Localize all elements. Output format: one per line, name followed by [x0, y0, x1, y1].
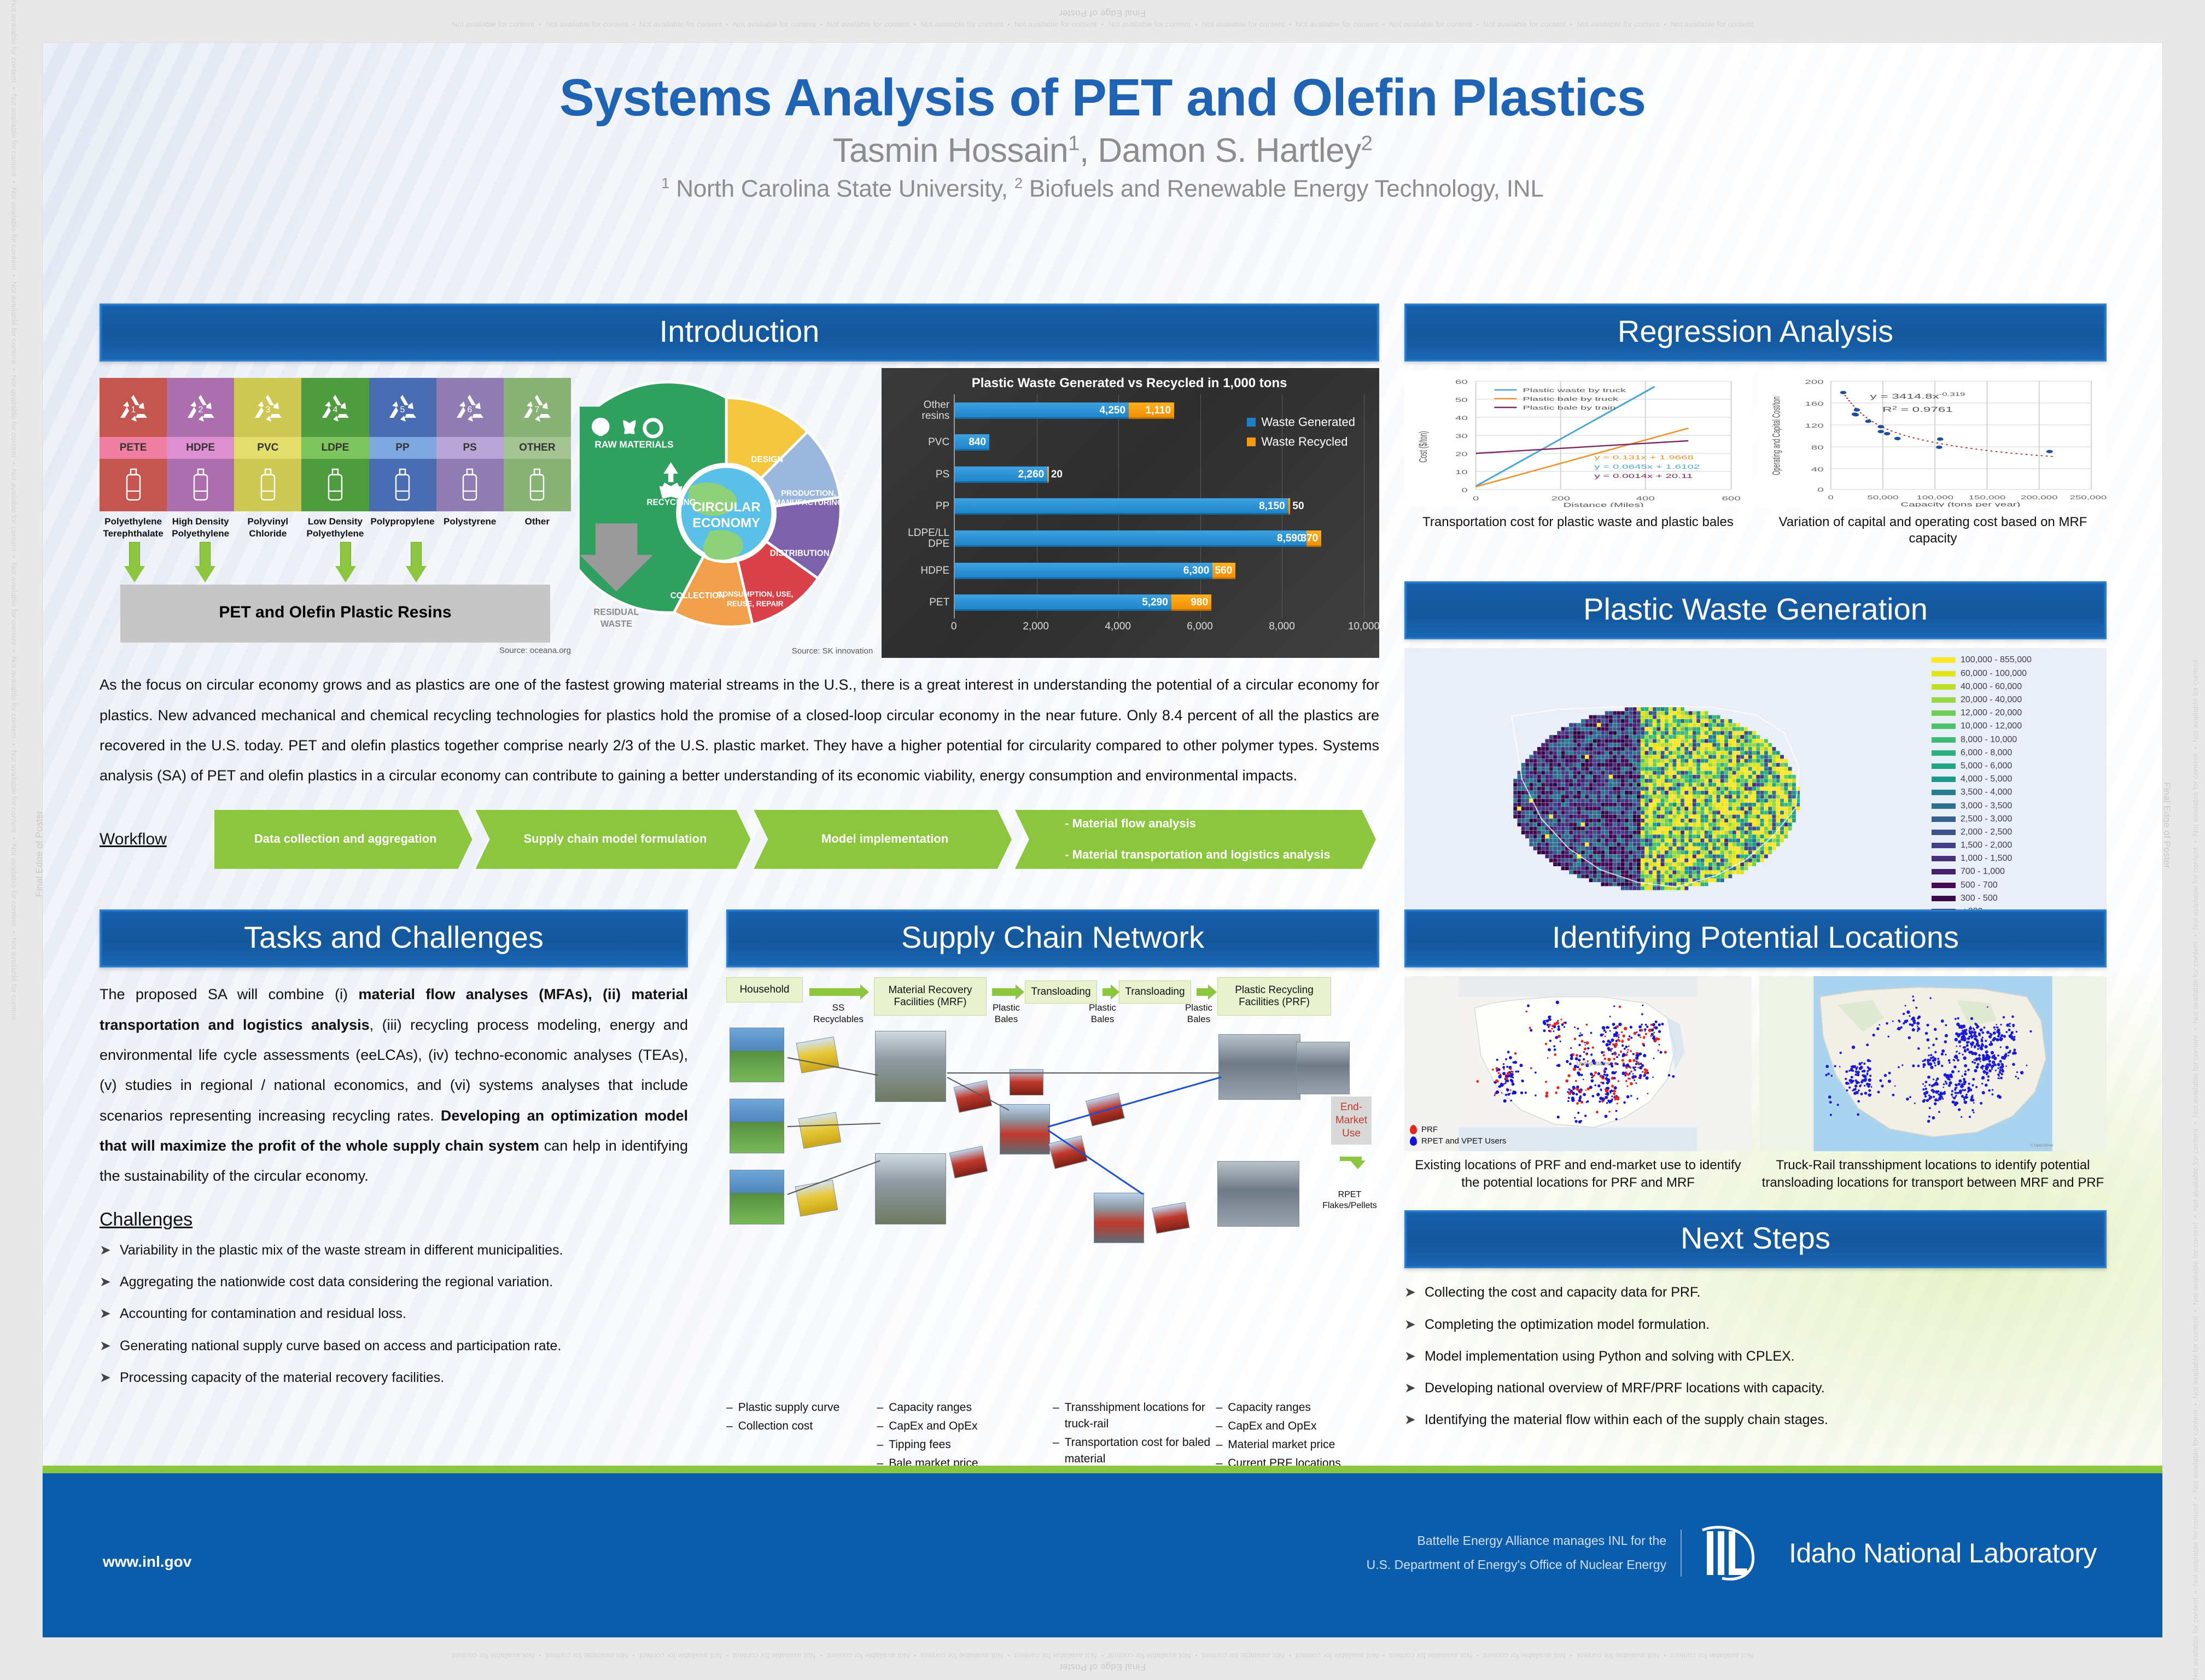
map-location-point: [1972, 1078, 1975, 1081]
county-cell: [1693, 799, 1696, 803]
county-cell: [1653, 859, 1656, 862]
county-cell: [1545, 843, 1549, 847]
county-cell: [1732, 775, 1736, 779]
county-cell: [1625, 755, 1629, 759]
county-cell: [1772, 751, 1776, 755]
county-cell: [1656, 799, 1660, 803]
county-cell: [1681, 799, 1684, 803]
map-location-point: [1931, 1089, 1934, 1092]
county-cell: [1681, 755, 1684, 759]
county-cell: [1712, 811, 1716, 815]
county-cell: [1732, 835, 1736, 839]
bar-row: PS2,26020: [955, 466, 1364, 483]
county-cell: [1585, 724, 1589, 727]
resin-code-label: PETE: [100, 437, 167, 459]
county-cell: [1645, 862, 1649, 866]
map-location-point: [1549, 1016, 1551, 1018]
county-cell: [1776, 767, 1780, 771]
county-cell: [1748, 739, 1752, 743]
county-cell: [1553, 819, 1557, 822]
bar-category-label: HDPE: [894, 565, 955, 576]
county-cell: [1569, 839, 1573, 843]
county-cell: [1549, 851, 1553, 855]
county-cell: [1537, 751, 1541, 755]
county-cell: [1649, 767, 1653, 771]
county-cell: [1645, 779, 1649, 783]
map-location-point: [1643, 1036, 1646, 1039]
county-cell: [1712, 819, 1716, 822]
county-cell: [1537, 831, 1541, 835]
county-cell: [1745, 835, 1748, 839]
map-location-point: [2013, 1051, 2015, 1053]
map-location-point: [1894, 1086, 1896, 1087]
county-cell: [1561, 807, 1565, 811]
county-cell: [1712, 847, 1716, 850]
county-cell: [1764, 803, 1768, 807]
county-cell: [1745, 839, 1748, 843]
county-cell: [1521, 795, 1525, 799]
county-cell: [1780, 807, 1784, 811]
county-cell: [1545, 755, 1549, 759]
county-cell: [1700, 823, 1704, 827]
map-location-point: [1601, 1090, 1602, 1092]
county-cell: [1577, 847, 1581, 850]
county-cell: [1613, 763, 1617, 767]
inl-website-link[interactable]: www.inl.gov: [103, 1553, 191, 1571]
county-cell: [1569, 819, 1573, 822]
county-cell: [1577, 831, 1581, 835]
bullet-text: Variability in the plastic mix of the wa…: [120, 1240, 563, 1260]
scatter-point: [1877, 425, 1884, 428]
map-location-point: [1975, 1024, 1978, 1026]
county-cell: [1569, 739, 1573, 743]
county-cell: [1705, 775, 1708, 779]
county-cell: [1681, 807, 1684, 811]
county-cell: [1780, 835, 1784, 839]
map-location-point: [1825, 1074, 1827, 1076]
county-cell: [1717, 855, 1720, 859]
county-cell: [1700, 811, 1704, 815]
county-cell: [1792, 795, 1796, 799]
county-cell: [1585, 763, 1589, 767]
bar-value-recycled: 980: [1191, 597, 1208, 609]
county-cell: [1577, 823, 1581, 827]
county-cell: [1745, 823, 1748, 827]
map-location-point: [1605, 1077, 1608, 1080]
county-cell: [1689, 827, 1693, 831]
county-cell: [1780, 783, 1784, 787]
county-cell: [1541, 787, 1545, 791]
county-cell: [1641, 851, 1644, 855]
map-location-point: [1579, 1069, 1582, 1071]
map-location-point: [1866, 1044, 1869, 1047]
county-cell: [1693, 791, 1696, 795]
dash-bullet-icon: –: [877, 1437, 884, 1453]
county-cell: [1633, 874, 1637, 878]
county-cell: [1756, 751, 1760, 755]
map-location-point: [1987, 1058, 1989, 1059]
county-cell: [1621, 779, 1625, 783]
prf-endmarket-map-cell: United States PRFRPET and VPET Users Exi…: [1404, 976, 1752, 1191]
down-arrow-icon: [195, 542, 215, 582]
county-cell: [1696, 767, 1700, 771]
county-cell: [1696, 811, 1700, 815]
map-location-point: [1851, 1080, 1853, 1081]
county-cell: [1745, 727, 1748, 731]
map-location-point: [2012, 1063, 2015, 1066]
map-location-point: [1966, 1048, 1969, 1051]
county-cell: [1665, 739, 1669, 743]
county-cell: [1772, 771, 1776, 775]
county-cell: [1665, 851, 1669, 855]
county-cell: [1748, 775, 1752, 779]
map-location-point: [1963, 1099, 1965, 1101]
map-location-point: [1934, 1062, 1935, 1064]
county-cell: [1653, 787, 1656, 791]
county-cell: [1645, 807, 1649, 811]
county-cell: [1681, 886, 1684, 890]
county-cell: [1748, 811, 1752, 815]
map-location-point: [1992, 1089, 1993, 1091]
map-location-point: [1626, 1095, 1630, 1099]
county-cell: [1693, 739, 1696, 743]
county-cell: [1561, 862, 1565, 866]
county-cell: [1617, 859, 1621, 862]
county-cell: [1665, 715, 1669, 719]
county-cell: [1665, 855, 1669, 859]
county-cell: [1656, 755, 1660, 759]
county-cell: [1740, 747, 1744, 751]
county-cell: [1577, 779, 1581, 783]
map-location-point: [1647, 1093, 1648, 1095]
county-cell: [1577, 843, 1581, 847]
county-cell: [1621, 819, 1625, 822]
county-cell: [1533, 767, 1537, 771]
county-cell: [1724, 763, 1728, 767]
county-cell: [1696, 807, 1700, 811]
flow-label-bales-1: PlasticBales: [991, 1002, 1022, 1025]
map-location-point: [1643, 1045, 1645, 1047]
map-location-point: [1961, 1116, 1962, 1118]
map-location-point: [1494, 1082, 1495, 1083]
county-cell: [1541, 755, 1545, 759]
bar-row: PP8,15050: [955, 498, 1364, 515]
map-location-point: [1639, 1066, 1642, 1070]
county-cell: [1693, 775, 1696, 779]
county-cell: [1661, 839, 1665, 843]
county-cell: [1549, 791, 1553, 795]
county-cell: [1605, 771, 1609, 775]
next-step-item: ➤Model implementation using Python and s…: [1404, 1346, 2107, 1366]
map-location-point: [1527, 1005, 1530, 1007]
county-cell: [1677, 791, 1681, 795]
county-cell: [1772, 843, 1776, 847]
optimization-input-item: –Collection cost: [726, 1418, 877, 1434]
county-cell: [1776, 807, 1780, 811]
map-location-point: [1502, 1066, 1505, 1069]
county-cell: [1625, 859, 1629, 862]
county-cell: [1708, 771, 1712, 775]
county-cell: [1533, 815, 1537, 819]
county-cell: [1569, 731, 1573, 735]
county-cell: [1525, 795, 1529, 799]
county-cell: [1653, 724, 1656, 727]
map-location-point: [1584, 1115, 1586, 1117]
legend-item: 60,000 - 100,000: [1932, 667, 2107, 680]
dash-bullet-icon: –: [877, 1399, 884, 1416]
county-cell: [1732, 779, 1736, 783]
county-cell: [1521, 787, 1525, 791]
bullet-arrow-icon: ➤: [100, 1368, 111, 1387]
county-cell: [1717, 859, 1720, 862]
map-location-point: [1634, 1032, 1637, 1035]
county-cell: [1673, 731, 1677, 735]
county-cell: [1557, 851, 1561, 855]
county-cell: [1601, 755, 1605, 759]
county-cell: [1597, 871, 1601, 874]
county-cell: [1573, 791, 1577, 795]
county-cell: [1597, 755, 1601, 759]
county-cell: [1684, 711, 1688, 715]
county-cell: [1637, 775, 1641, 779]
county-cell: [1653, 795, 1656, 799]
map-location-point: [1958, 1040, 1961, 1043]
optimization-input-item: –CapEx and OpEx: [1216, 1418, 1380, 1434]
county-cell: [1665, 708, 1669, 711]
county-cell: [1649, 851, 1653, 855]
map-location-point: [2009, 1023, 2010, 1024]
county-cell: [1617, 783, 1621, 787]
county-cell: [1780, 815, 1784, 819]
county-cell: [1689, 731, 1693, 735]
map-location-point: [1570, 1054, 1573, 1057]
county-cell: [1760, 835, 1764, 839]
county-cell: [1656, 859, 1660, 862]
county-cell: [1641, 791, 1644, 795]
map-location-point: [1977, 1048, 1979, 1050]
footer-credit: Battelle Energy Alliance manages INL for…: [1367, 1529, 1667, 1577]
county-cell: [1609, 843, 1613, 847]
county-cell: [1513, 779, 1517, 783]
county-cell: [1673, 739, 1677, 743]
svg-text:2: 2: [198, 405, 203, 415]
county-cell: [1617, 819, 1621, 822]
svg-text:MANUFACTURING: MANUFACTURING: [774, 499, 843, 507]
map-location-point: [1987, 1054, 1988, 1056]
map-location-point: [2008, 1029, 2011, 1031]
county-cell: [1681, 874, 1684, 878]
county-cell: [1700, 835, 1704, 839]
county-cell: [1665, 747, 1669, 751]
map-location-point: [1618, 1081, 1619, 1082]
county-cell: [1693, 743, 1696, 747]
map-location-point: [1990, 1041, 1992, 1043]
county-cell: [1720, 731, 1724, 735]
resin-product-icon: [100, 459, 167, 511]
county-cell: [1625, 823, 1629, 827]
map-location-point: [1999, 1060, 2002, 1063]
svg-text:20: 20: [1455, 451, 1468, 458]
county-cell: [1760, 807, 1764, 811]
county-cell: [1764, 827, 1768, 831]
map-location-point: [1924, 1095, 1927, 1098]
county-cell: [1661, 843, 1665, 847]
county-cell: [1712, 755, 1716, 759]
map-location-point: [1613, 1006, 1615, 1007]
county-cell: [1637, 751, 1641, 755]
county-cell: [1589, 727, 1593, 731]
map-location-point: [1991, 1068, 1993, 1070]
county-cell: [1653, 879, 1656, 883]
map-location-point: [1965, 1094, 1968, 1096]
county-cell: [1665, 807, 1669, 811]
county-cell: [1557, 783, 1561, 787]
county-cell: [1617, 775, 1621, 779]
county-cell: [1633, 771, 1637, 775]
county-cell: [1656, 783, 1660, 787]
county-cell: [1601, 851, 1605, 855]
x-axis-tick: 0: [951, 621, 957, 633]
county-cell: [1605, 815, 1609, 819]
county-cell: [1553, 807, 1557, 811]
county-cell: [1537, 767, 1541, 771]
county-cell: [1613, 803, 1617, 807]
introduction-panel: Introduction 1PETEPolyethylene Terephtha…: [100, 304, 1379, 869]
map-location-point: [1876, 1028, 1880, 1031]
map-location-point: [1569, 1063, 1572, 1065]
map-location-point: [1506, 1066, 1508, 1068]
county-cell: [1549, 787, 1553, 791]
map-location-point: [1929, 1059, 1931, 1061]
county-cell: [1637, 823, 1641, 827]
county-cell: [1728, 719, 1732, 723]
county-cell: [1736, 823, 1740, 827]
county-cell: [1696, 791, 1700, 795]
county-cell: [1613, 839, 1617, 843]
county-cell: [1673, 715, 1677, 719]
county-cell: [1700, 843, 1704, 847]
county-cell: [1553, 851, 1557, 855]
county-cell: [1629, 783, 1632, 787]
county-cell: [1693, 731, 1696, 735]
county-cell: [1637, 763, 1641, 767]
county-cell: [1708, 791, 1712, 795]
map-location-point: [1606, 1026, 1608, 1028]
map-location-point: [1913, 1022, 1916, 1024]
map-location-point: [1501, 1092, 1503, 1094]
challenge-item: ➤Variability in the plastic mix of the w…: [100, 1240, 688, 1260]
county-cell: [1720, 747, 1724, 751]
county-cell: [1593, 759, 1597, 763]
county-cell: [1525, 771, 1529, 775]
county-cell: [1732, 787, 1736, 791]
county-cell: [1684, 827, 1688, 831]
county-cell: [1748, 847, 1752, 850]
county-cell: [1736, 775, 1740, 779]
county-cell: [1589, 771, 1593, 775]
county-cell: [1653, 736, 1656, 739]
county-cell: [1633, 727, 1637, 731]
map-location-point: [1857, 1113, 1859, 1116]
county-cell: [1649, 739, 1653, 743]
county-cell: [1665, 811, 1669, 815]
county-cell: [1732, 827, 1736, 831]
county-cell: [1629, 807, 1632, 811]
svg-text:200,000: 200,000: [2021, 495, 2057, 501]
svg-text:COLLECTION: COLLECTION: [670, 591, 725, 600]
bar-category-label: PS: [894, 469, 955, 480]
county-cell: [1756, 743, 1760, 747]
map-location-point: [1636, 1057, 1638, 1060]
map-location-point: [1928, 1116, 1930, 1118]
map-location-point: [1905, 1005, 1906, 1007]
county-cell: [1557, 739, 1561, 743]
county-cell: [1740, 743, 1744, 747]
county-cell: [1609, 803, 1613, 807]
county-cell: [1565, 783, 1569, 787]
county-cell: [1732, 815, 1736, 819]
county-cell: [1792, 815, 1796, 819]
county-cell: [1712, 803, 1716, 807]
county-cell: [1772, 763, 1776, 767]
county-cell: [1613, 731, 1617, 735]
county-cell: [1756, 843, 1760, 847]
county-cell: [1656, 759, 1660, 763]
county-cell: [1653, 803, 1656, 807]
county-cell: [1533, 839, 1537, 843]
resin-full-name: High Density Polyethylene: [167, 516, 234, 541]
county-cell: [1601, 727, 1605, 731]
county-cell: [1633, 759, 1637, 763]
county-cell: [1549, 779, 1553, 783]
map-location-point: [1976, 1040, 1978, 1041]
county-cell: [1720, 791, 1724, 795]
county-cell: [1641, 835, 1644, 839]
county-cell: [1589, 879, 1593, 883]
county-cell: [1736, 855, 1740, 859]
county-cell: [1617, 862, 1621, 866]
map-location-point: [1932, 1044, 1935, 1047]
county-cell: [1732, 739, 1736, 743]
county-cell: [1589, 791, 1593, 795]
county-cell: [1589, 815, 1593, 819]
county-cell: [1696, 831, 1700, 835]
county-cell: [1669, 815, 1672, 819]
map-location-point: [1998, 1077, 1999, 1079]
county-cell: [1780, 791, 1784, 795]
county-cell: [1573, 867, 1577, 871]
county-cell: [1593, 751, 1597, 755]
county-cell: [1717, 839, 1720, 843]
county-cell: [1621, 715, 1625, 719]
county-cell: [1633, 711, 1637, 715]
county-cell: [1637, 727, 1641, 731]
county-cell: [1613, 783, 1617, 787]
county-cell: [1577, 791, 1581, 795]
county-cell: [1621, 711, 1625, 715]
bar-waste-generated: 5,290: [955, 594, 1171, 611]
county-cell: [1637, 819, 1641, 822]
county-cell: [1752, 771, 1756, 775]
county-cell: [1641, 819, 1644, 822]
county-cell: [1717, 787, 1720, 791]
county-cell: [1681, 831, 1684, 835]
county-cell: [1684, 862, 1688, 866]
county-cell: [1712, 724, 1716, 727]
county-cell: [1700, 867, 1704, 871]
county-cell: [1684, 755, 1688, 759]
county-cell: [1693, 871, 1696, 874]
